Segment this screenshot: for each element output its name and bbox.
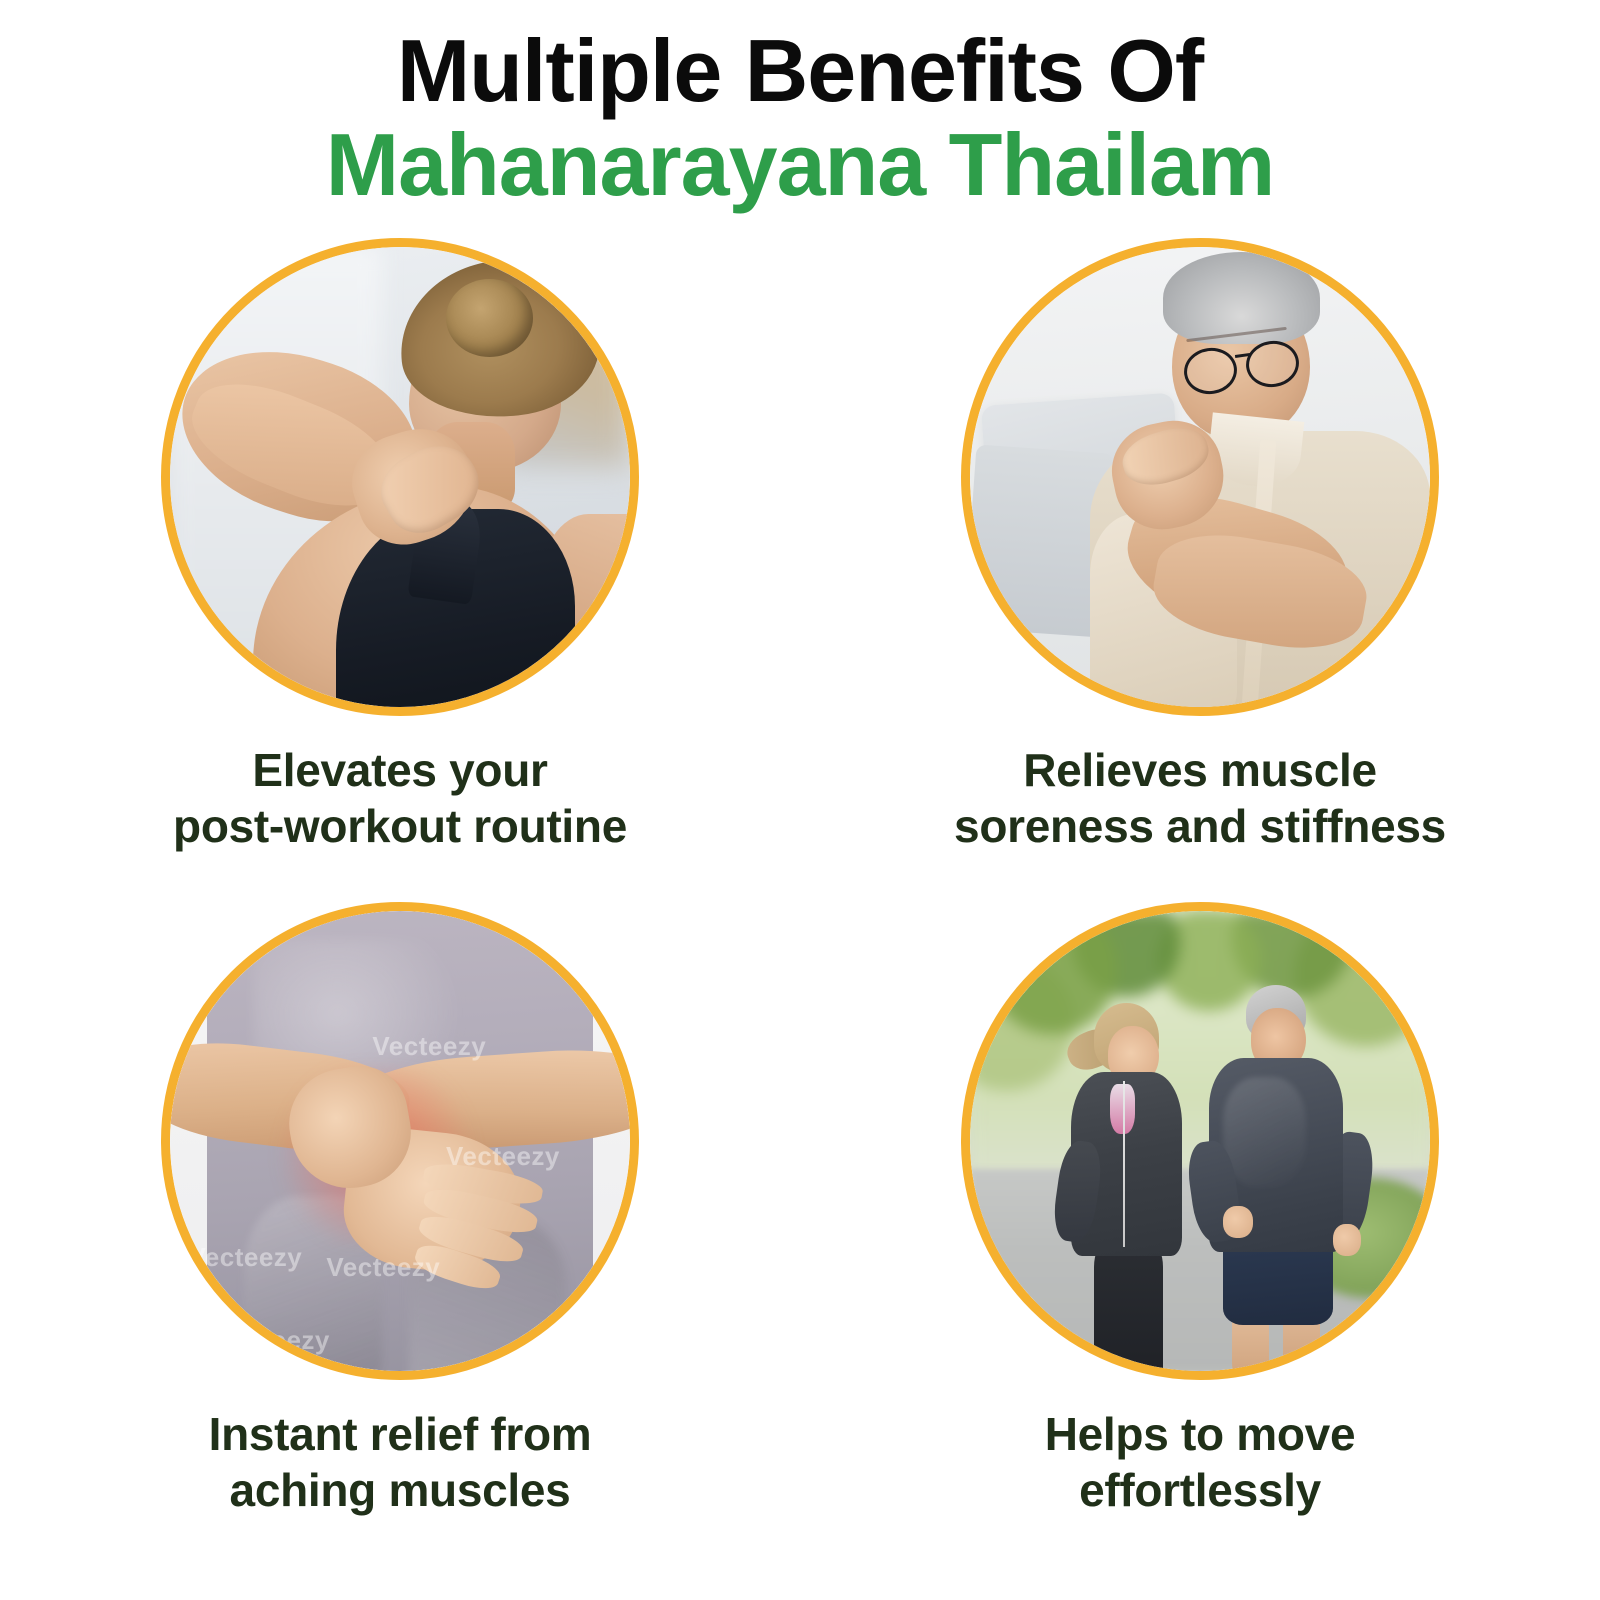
page-title: Multiple Benefits Of Mahanarayana Thaila… — [0, 26, 1600, 214]
photo-ring-2 — [961, 238, 1439, 716]
older-man-shoulder-pain-photo — [970, 247, 1430, 707]
caption-2-line-1: Relieves muscle — [954, 742, 1446, 798]
benefit-caption-4: Helps to move effortlessly — [1045, 1406, 1356, 1518]
caption-4-line-2: effortlessly — [1045, 1462, 1356, 1518]
title-line-product: Mahanarayana Thailam — [0, 116, 1600, 215]
photo-ring-3: Vecteezy Vecteezy Vecteezy Vecteezy Vect… — [161, 902, 639, 1380]
benefit-card-1: Elevates your post-workout routine — [0, 238, 800, 854]
benefit-caption-2: Relieves muscle soreness and stiffness — [954, 742, 1446, 854]
watermark-text: Vecteezy — [446, 1141, 560, 1172]
title-line-primary: Multiple Benefits Of — [0, 26, 1600, 116]
watermark-text: Vecteezy — [216, 1325, 330, 1356]
watermark-text: Vecteezy — [188, 1242, 302, 1273]
benefit-card-3: Vecteezy Vecteezy Vecteezy Vecteezy Vect… — [0, 902, 800, 1518]
photo-ring-1 — [161, 238, 639, 716]
benefit-caption-1: Elevates your post-workout routine — [173, 742, 627, 854]
wrist-pain-photo: Vecteezy Vecteezy Vecteezy Vecteezy Vect… — [170, 911, 630, 1371]
benefits-grid: Elevates your post-workout routine — [0, 238, 1600, 1518]
caption-2-line-2: soreness and stiffness — [954, 798, 1446, 854]
benefit-caption-3: Instant relief from aching muscles — [209, 1406, 592, 1518]
caption-1-line-2: post-workout routine — [173, 798, 627, 854]
benefit-card-4: Helps to move effortlessly — [800, 902, 1600, 1518]
watermark-text: Vecteezy — [372, 1031, 486, 1062]
caption-3-line-2: aching muscles — [209, 1462, 592, 1518]
caption-1-line-1: Elevates your — [173, 742, 627, 798]
caption-4-line-1: Helps to move — [1045, 1406, 1356, 1462]
caption-3-line-1: Instant relief from — [209, 1406, 592, 1462]
benefit-card-2: Relieves muscle soreness and stiffness — [800, 238, 1600, 854]
woman-holding-neck-photo — [170, 247, 630, 707]
photo-ring-4 — [961, 902, 1439, 1380]
benefits-poster: Multiple Benefits Of Mahanarayana Thaila… — [0, 0, 1600, 1600]
couple-jogging-photo — [970, 911, 1430, 1371]
watermark-text: Vecteezy — [326, 1252, 440, 1283]
